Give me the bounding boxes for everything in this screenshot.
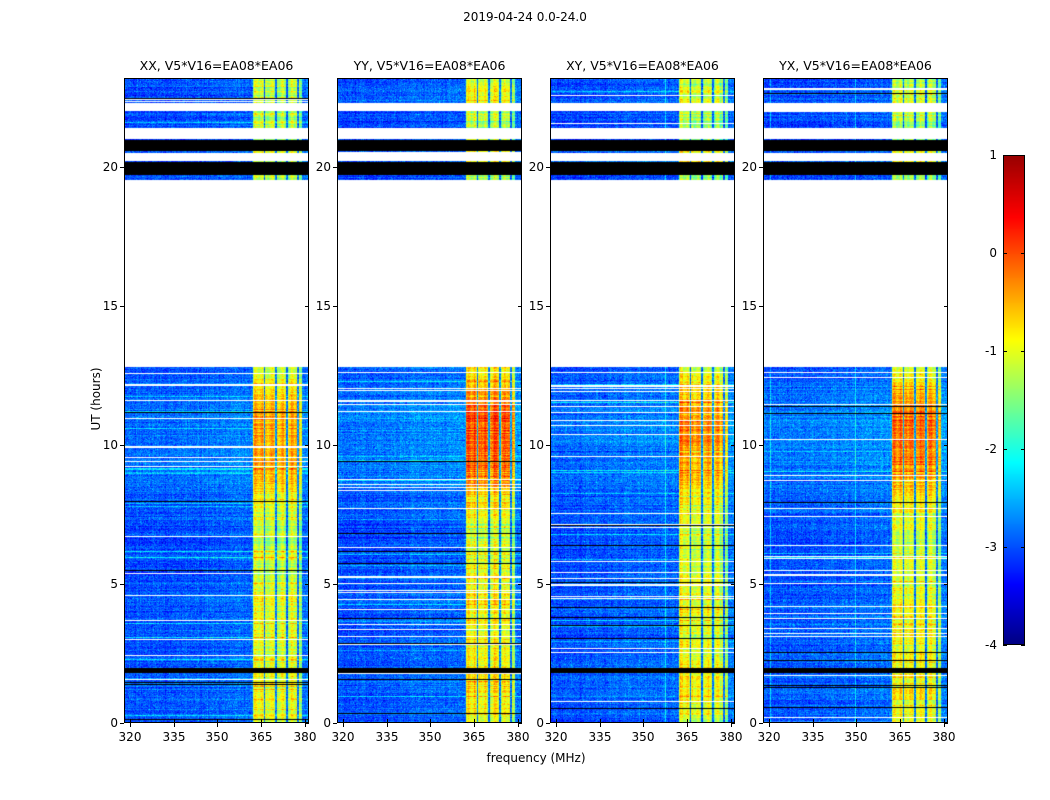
- x-tick-mark-inner: [430, 719, 431, 723]
- x-tick-label: 365: [250, 730, 273, 744]
- x-tick-mark-inner: [856, 719, 857, 723]
- x-tick-mark: [769, 723, 770, 727]
- y-tick-label: 5: [92, 577, 118, 591]
- y-tick-label: 0: [92, 716, 118, 730]
- waterfall-image-xx: [125, 79, 309, 723]
- x-tick-mark: [813, 723, 814, 727]
- colorbar-tick-mark: [1003, 449, 1007, 450]
- x-tick-mark-inner: [343, 719, 344, 723]
- y-axis-label: UT (hours): [89, 349, 103, 449]
- x-tick-label: 350: [845, 730, 868, 744]
- y-tick-label: 5: [518, 577, 544, 591]
- x-tick-label: 380: [720, 730, 743, 744]
- y-tick-mark-right: [944, 723, 948, 724]
- x-tick-label: 350: [632, 730, 655, 744]
- y-tick-label: 15: [518, 299, 544, 313]
- panel-title-yy: YY, V5*V16=EA08*EA06: [337, 58, 522, 73]
- x-tick-mark: [643, 723, 644, 727]
- x-tick-mark: [174, 723, 175, 727]
- waterfall-image-xy: [551, 79, 735, 723]
- x-tick-label: 335: [802, 730, 825, 744]
- y-tick-mark: [333, 445, 337, 446]
- y-tick-label: 15: [92, 299, 118, 313]
- y-tick-label: 10: [518, 438, 544, 452]
- colorbar-scale[interactable]: [1003, 155, 1025, 645]
- y-tick-mark-right: [944, 445, 948, 446]
- y-tick-mark: [759, 167, 763, 168]
- y-tick-mark: [546, 445, 550, 446]
- x-tick-label: 335: [376, 730, 399, 744]
- colorbar-tick-mark-right: [1021, 155, 1025, 156]
- colorbar-tick-label: -3: [969, 540, 997, 554]
- x-tick-label: 380: [933, 730, 956, 744]
- panel-xx: XX, V5*V16=EA08*EA0632033535036538005101…: [124, 78, 309, 723]
- y-tick-mark: [546, 167, 550, 168]
- y-tick-label: 15: [731, 299, 757, 313]
- y-tick-mark: [120, 584, 124, 585]
- colorbar-tick-mark: [1003, 645, 1007, 646]
- x-tick-mark-inner: [130, 719, 131, 723]
- y-tick-mark: [120, 723, 124, 724]
- colorbar-tick-label: 1: [969, 148, 997, 162]
- y-tick-label: 5: [731, 577, 757, 591]
- x-tick-label: 335: [163, 730, 186, 744]
- y-tick-mark: [546, 723, 550, 724]
- y-tick-mark: [546, 306, 550, 307]
- x-tick-mark: [556, 723, 557, 727]
- x-tick-mark-inner: [813, 719, 814, 723]
- colorbar-tick-mark-right: [1021, 449, 1025, 450]
- y-tick-mark: [759, 445, 763, 446]
- colorbar-tick-mark-right: [1021, 645, 1025, 646]
- colorbar-tick-label: -2: [969, 442, 997, 456]
- waterfall-plot-xx[interactable]: [124, 78, 309, 723]
- colorbar-tick-mark-right: [1021, 547, 1025, 548]
- x-tick-label: 320: [545, 730, 568, 744]
- colorbar-gradient: [1004, 156, 1025, 645]
- panel-xy: XY, V5*V16=EA08*EA0632033535036538005101…: [550, 78, 735, 723]
- x-tick-mark-inner: [217, 719, 218, 723]
- y-tick-mark: [333, 584, 337, 585]
- x-tick-mark: [430, 723, 431, 727]
- waterfall-image-yx: [764, 79, 948, 723]
- x-tick-label: 320: [332, 730, 355, 744]
- x-tick-label: 365: [889, 730, 912, 744]
- y-tick-mark: [759, 306, 763, 307]
- x-tick-mark-inner: [261, 719, 262, 723]
- panel-title-xy: XY, V5*V16=EA08*EA06: [550, 58, 735, 73]
- colorbar-tick-label: -4: [969, 638, 997, 652]
- waterfall-plot-yx[interactable]: [763, 78, 948, 723]
- y-tick-label: 20: [518, 160, 544, 174]
- y-tick-label: 20: [731, 160, 757, 174]
- y-tick-mark: [120, 445, 124, 446]
- waterfall-plot-yy[interactable]: [337, 78, 522, 723]
- colorbar-tick-mark-right: [1021, 253, 1025, 254]
- y-tick-label: 0: [305, 716, 331, 730]
- x-tick-mark-inner: [474, 719, 475, 723]
- x-tick-label: 380: [294, 730, 317, 744]
- panel-yy: YY, V5*V16=EA08*EA0632033535036538005101…: [337, 78, 522, 723]
- colorbar-tick-mark: [1003, 547, 1007, 548]
- panel-title-xx: XX, V5*V16=EA08*EA06: [124, 58, 309, 73]
- x-tick-mark-inner: [387, 719, 388, 723]
- x-tick-mark: [261, 723, 262, 727]
- y-tick-label: 15: [305, 299, 331, 313]
- x-tick-label: 365: [463, 730, 486, 744]
- x-tick-mark: [474, 723, 475, 727]
- colorbar-tick-mark: [1003, 253, 1007, 254]
- x-tick-mark: [600, 723, 601, 727]
- waterfall-image-yy: [338, 79, 522, 723]
- figure-suptitle: 2019-04-24 0.0-24.0: [0, 10, 1050, 24]
- y-tick-label: 20: [92, 160, 118, 174]
- x-tick-mark: [387, 723, 388, 727]
- x-tick-mark-inner: [687, 719, 688, 723]
- y-tick-mark-right: [944, 584, 948, 585]
- colorbar-tick-mark-right: [1021, 351, 1025, 352]
- x-tick-mark-inner: [174, 719, 175, 723]
- x-tick-label: 320: [758, 730, 781, 744]
- y-tick-label: 20: [305, 160, 331, 174]
- x-axis-label: frequency (MHz): [486, 751, 585, 765]
- x-tick-mark-inner: [643, 719, 644, 723]
- y-tick-mark-right: [944, 167, 948, 168]
- y-tick-label: 10: [731, 438, 757, 452]
- x-tick-mark-inner: [900, 719, 901, 723]
- figure-canvas: 2019-04-24 0.0-24.0 XX, V5*V16=EA08*EA06…: [0, 0, 1050, 800]
- x-tick-label: 380: [507, 730, 530, 744]
- x-tick-mark: [217, 723, 218, 727]
- colorbar-tick-mark: [1003, 351, 1007, 352]
- x-tick-label: 350: [206, 730, 229, 744]
- y-tick-label: 0: [518, 716, 544, 730]
- x-tick-label: 365: [676, 730, 699, 744]
- colorbar-tick-mark: [1003, 155, 1007, 156]
- x-tick-label: 335: [589, 730, 612, 744]
- y-tick-mark: [333, 723, 337, 724]
- y-tick-label: 5: [305, 577, 331, 591]
- colorbar-tick-label: 0: [969, 246, 997, 260]
- y-tick-mark: [759, 723, 763, 724]
- panel-yx: YX, V5*V16=EA08*EA0632033535036538005101…: [763, 78, 948, 723]
- y-tick-label: 0: [731, 716, 757, 730]
- x-tick-mark: [130, 723, 131, 727]
- colorbar-tick-label: -1: [969, 344, 997, 358]
- waterfall-plot-xy[interactable]: [550, 78, 735, 723]
- y-tick-mark: [120, 167, 124, 168]
- x-tick-mark-inner: [769, 719, 770, 723]
- x-tick-mark-inner: [556, 719, 557, 723]
- y-tick-mark-right: [944, 306, 948, 307]
- x-tick-mark-inner: [600, 719, 601, 723]
- x-tick-mark: [900, 723, 901, 727]
- x-tick-mark: [856, 723, 857, 727]
- x-tick-mark: [343, 723, 344, 727]
- y-tick-label: 10: [305, 438, 331, 452]
- y-tick-mark: [120, 306, 124, 307]
- x-tick-label: 320: [119, 730, 142, 744]
- y-tick-mark: [333, 167, 337, 168]
- x-tick-mark: [687, 723, 688, 727]
- x-tick-label: 350: [419, 730, 442, 744]
- y-tick-mark: [333, 306, 337, 307]
- y-tick-mark: [546, 584, 550, 585]
- y-tick-mark: [759, 584, 763, 585]
- panel-title-yx: YX, V5*V16=EA08*EA06: [763, 58, 948, 73]
